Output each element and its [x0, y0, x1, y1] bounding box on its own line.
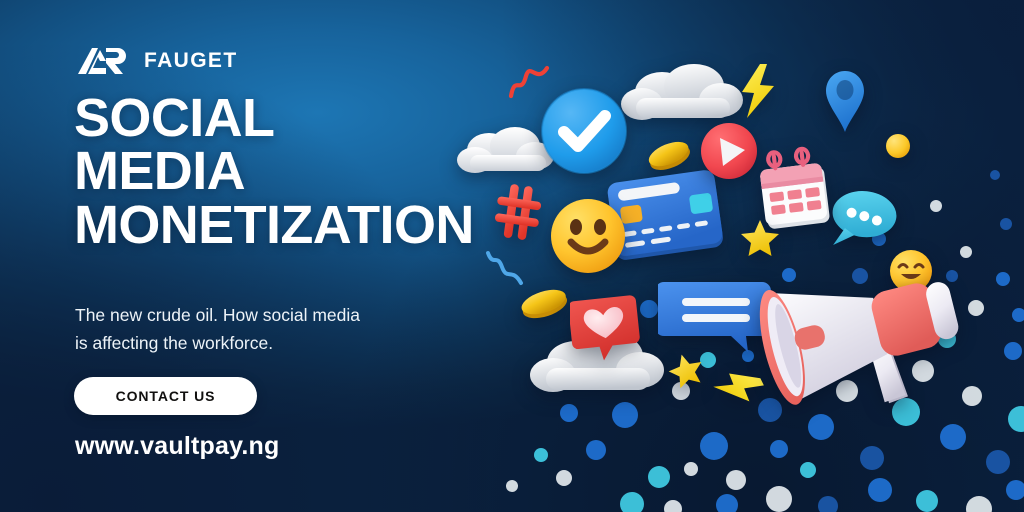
location-pin-icon — [822, 68, 868, 136]
smiley-emoji-icon — [548, 196, 628, 276]
play-button-icon — [698, 120, 760, 182]
subcopy-text: The new crude oil. How social media is a… — [75, 301, 375, 358]
promo-banner: FAUGET SOCIAL MEDIA MONETIZATION The new… — [0, 0, 1024, 512]
decorative-dot — [1012, 308, 1024, 322]
page-title: SOCIAL MEDIA MONETIZATION — [74, 92, 544, 252]
decorative-dot — [640, 300, 658, 318]
decorative-dot — [534, 448, 548, 462]
decorative-dot — [560, 404, 578, 422]
decorative-dot — [700, 432, 728, 460]
decorative-dot — [684, 462, 698, 476]
megaphone-icon — [750, 228, 970, 428]
decorative-dot — [868, 478, 892, 502]
lightning-bolt-top-icon — [736, 62, 780, 120]
decorative-dot — [664, 500, 682, 512]
decorative-dot — [860, 446, 884, 470]
decorative-dot — [818, 496, 838, 512]
decorative-dot — [766, 486, 792, 512]
decorative-dot — [1004, 342, 1022, 360]
heart-notification-icon — [570, 288, 642, 364]
decorative-dot — [556, 470, 572, 486]
decorative-dot — [800, 462, 816, 478]
headline-line-1: SOCIAL — [74, 92, 544, 145]
verified-check-badge-icon — [538, 85, 630, 177]
decorative-dot — [716, 494, 738, 512]
website-url: www.vaultpay.ng — [75, 432, 279, 461]
headline-line-3: MONETIZATION — [74, 199, 544, 252]
decorative-dot — [770, 440, 788, 458]
brand-name: FAUGET — [144, 49, 238, 73]
decorative-dot — [506, 480, 518, 492]
decorative-dot — [996, 272, 1010, 286]
decorative-dot — [620, 492, 644, 512]
star-lower-icon — [668, 352, 704, 388]
headline-line-2: MEDIA — [74, 145, 544, 198]
decorative-dot — [1006, 480, 1024, 500]
decorative-dot — [1008, 406, 1024, 432]
sphere-yellow-icon — [885, 133, 911, 159]
brand-lockup: FAUGET — [76, 44, 238, 78]
decorative-dot — [986, 450, 1010, 474]
decorative-dot — [990, 170, 1000, 180]
ar-monogram-logo-icon — [76, 44, 128, 78]
decorative-dot — [1000, 218, 1012, 230]
contact-us-button[interactable]: CONTACT US — [74, 377, 257, 415]
decorative-dot — [648, 466, 670, 488]
decorative-dot — [586, 440, 606, 460]
decorative-dot — [966, 496, 992, 512]
decorative-dot — [916, 490, 938, 512]
coin-gold-lower-icon — [518, 282, 570, 324]
decorative-dot — [726, 470, 746, 490]
decorative-dot — [930, 200, 942, 212]
decorative-dot — [968, 300, 984, 316]
